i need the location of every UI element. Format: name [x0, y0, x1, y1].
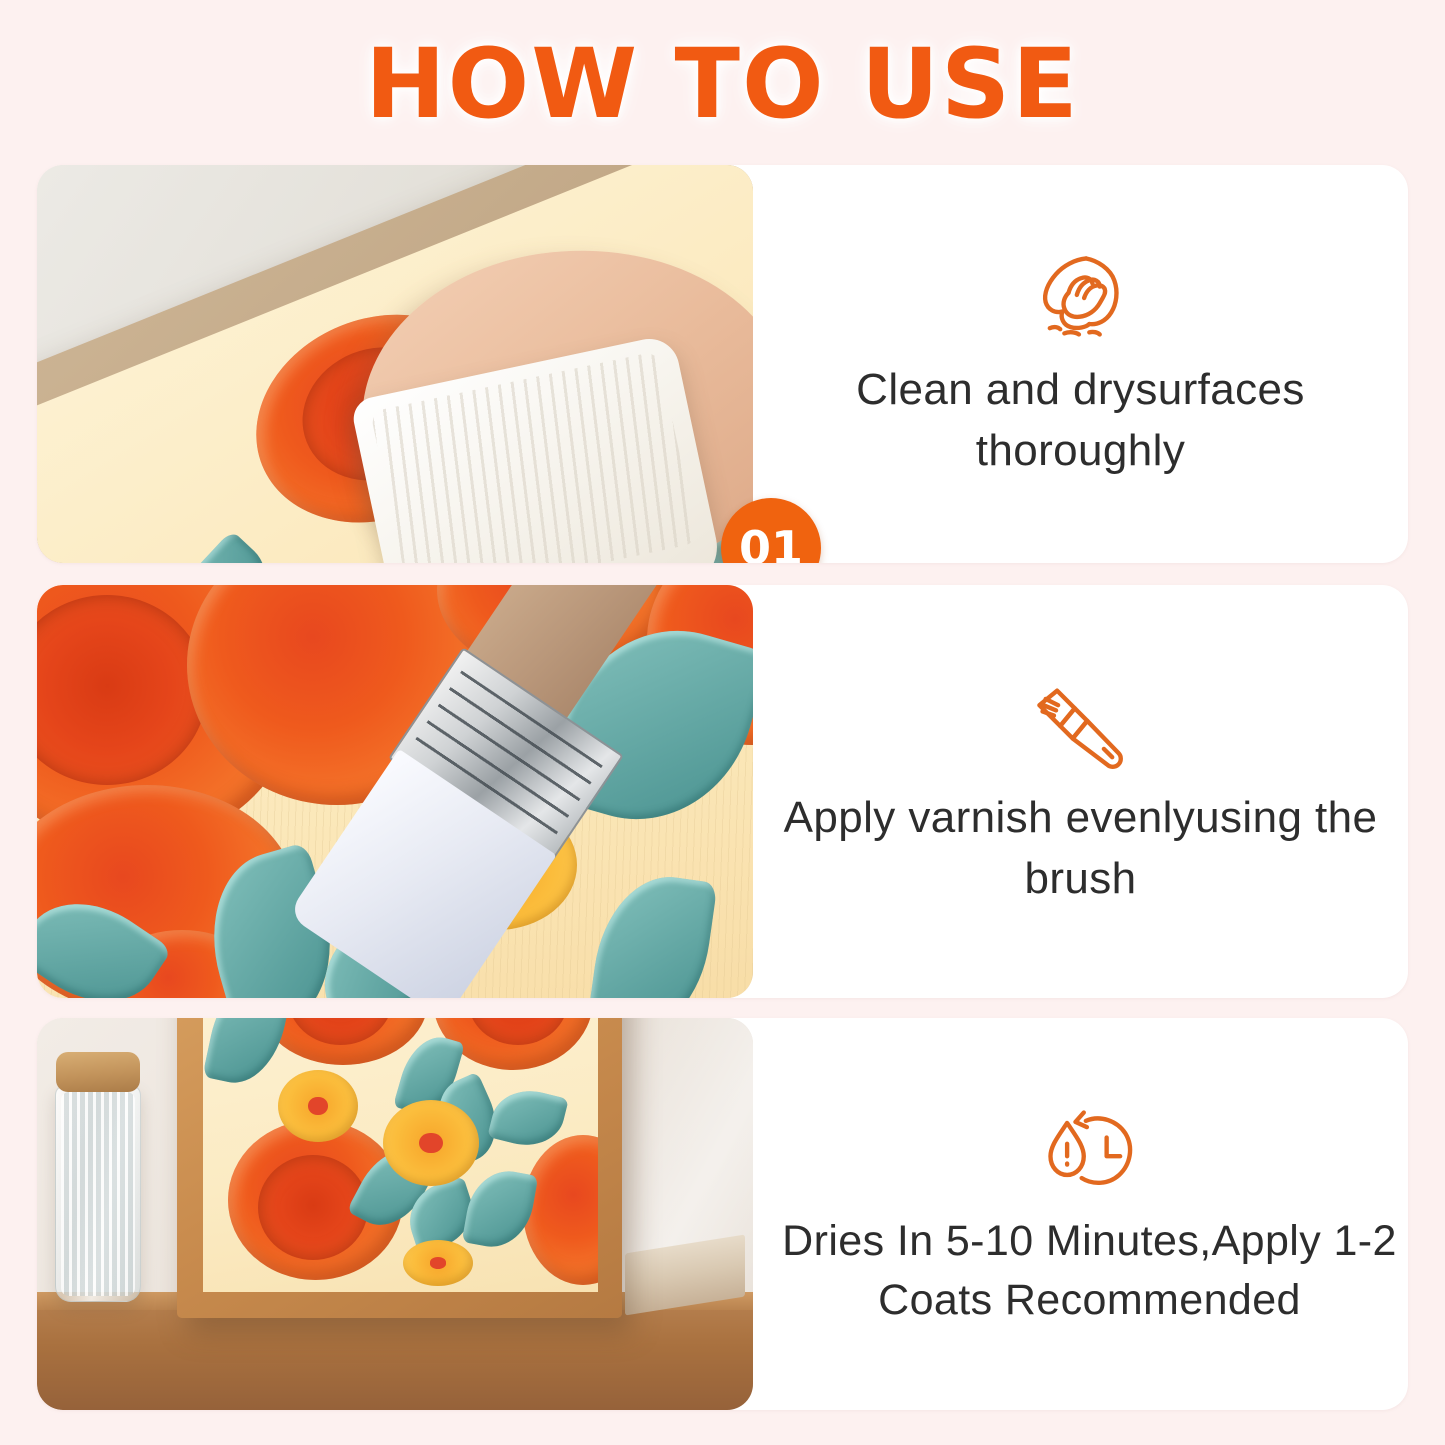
step-card-01: 01 Clean and drysurfaces thoroughly: [37, 165, 1408, 563]
step-card-02: 02 Apply varnish evenlyusing the brush: [37, 585, 1408, 998]
step-description-03: Dries In 5-10 Minutes,Apply 1-2 Coats Re…: [771, 1212, 1408, 1331]
step-photo-03: [37, 1018, 753, 1410]
step-description-01: Clean and drysurfaces thoroughly: [781, 360, 1381, 481]
page-title: HOW TO USE: [0, 34, 1445, 135]
paint-brush-icon: [1029, 674, 1133, 778]
step-photo-01: [37, 165, 753, 563]
drying-time-droplet-clock-icon: [1038, 1098, 1142, 1202]
step-content-03: Dries In 5-10 Minutes,Apply 1-2 Coats Re…: [753, 1018, 1408, 1410]
step-card-03: 03 Dries In 5-10 Minutes,Apply 1-2 Coats…: [37, 1018, 1408, 1410]
step-description-02: Apply varnish evenlyusing the brush: [781, 788, 1381, 909]
hand-wiping-cloth-icon: [1029, 246, 1133, 350]
step-content-01: Clean and drysurfaces thoroughly: [753, 165, 1408, 563]
step-content-02: Apply varnish evenlyusing the brush: [753, 585, 1408, 998]
step-photo-02: [37, 585, 753, 998]
